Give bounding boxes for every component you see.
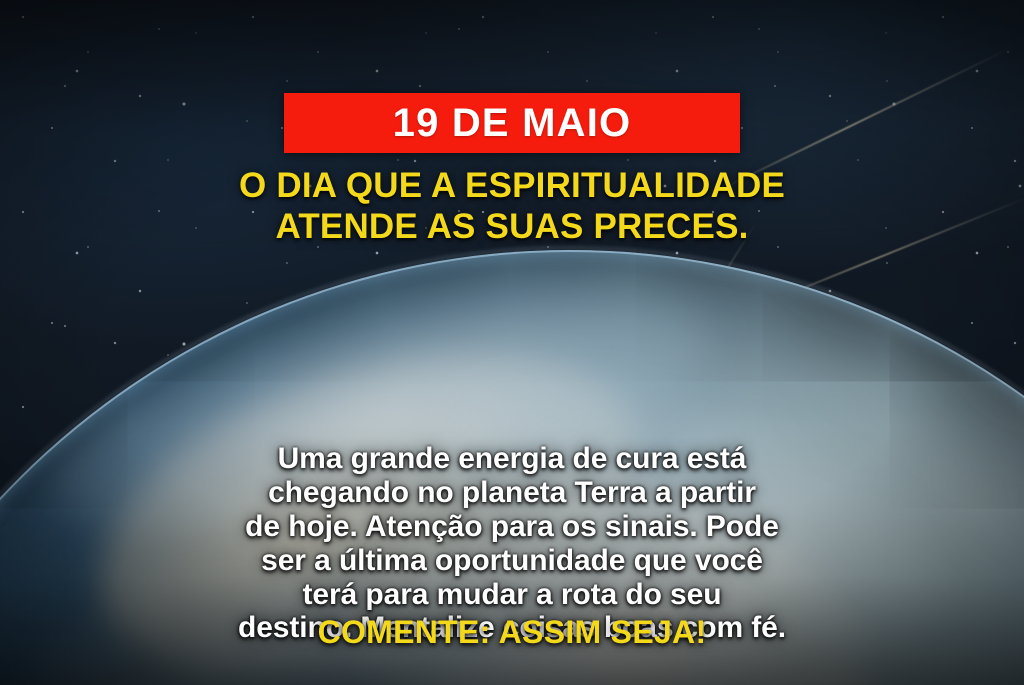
- body-line-2: chegando no planeta Terra a partir: [0, 476, 1024, 510]
- headline: O DIA QUE A ESPIRITUALIDADE ATENDE AS SU…: [0, 166, 1024, 247]
- poster: 19 DE MAIO O DIA QUE A ESPIRITUALIDADE A…: [0, 0, 1024, 685]
- call-to-action-text: COMENTE: ASSIM SEJA!: [0, 615, 1024, 650]
- body-line-4: ser a última oportunidade que você: [0, 544, 1024, 578]
- headline-line-2: ATENDE AS SUAS PRECES.: [0, 207, 1024, 248]
- body-line-1: Uma grande energia de cura está: [0, 442, 1024, 476]
- date-banner: 19 DE MAIO: [284, 93, 740, 153]
- headline-line-1: O DIA QUE A ESPIRITUALIDADE: [0, 166, 1024, 207]
- body-line-5: terá para mudar a rota do seu: [0, 578, 1024, 612]
- date-banner-label: 19 DE MAIO: [393, 103, 632, 143]
- body-line-3: de hoje. Atenção para os sinais. Pode: [0, 510, 1024, 544]
- poster-content: 19 DE MAIO O DIA QUE A ESPIRITUALIDADE A…: [0, 0, 1024, 685]
